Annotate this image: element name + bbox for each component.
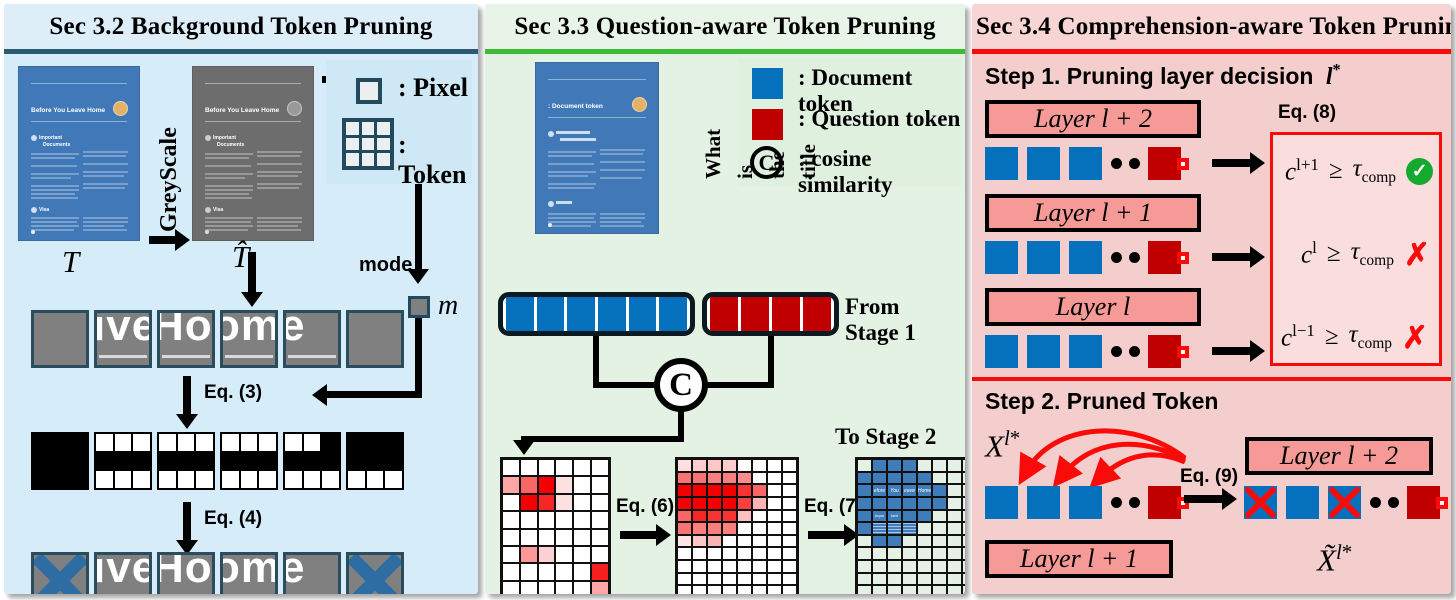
kept-token-4: e — [283, 552, 341, 594]
grid-cell — [708, 523, 721, 534]
grid-cell — [678, 460, 691, 471]
grid-cell — [948, 485, 961, 496]
grid-cell — [738, 460, 751, 471]
mode-label: mode — [359, 254, 412, 277]
step-divider — [972, 377, 1451, 381]
grid-cell — [963, 498, 965, 509]
grid-cell — [678, 548, 691, 559]
document-token-bar — [498, 292, 695, 336]
grid-cell — [753, 498, 766, 509]
check-icon: ✓ — [1406, 158, 1433, 185]
grid-cell — [963, 473, 965, 484]
grid-cell — [592, 495, 608, 510]
token-row-l-plus-2 — [985, 147, 1189, 180]
grid-cell — [592, 547, 608, 562]
grid-cell — [963, 561, 965, 572]
grid-cell — [918, 574, 931, 585]
grid-cell — [873, 473, 886, 484]
ellipsis-dots-icon — [1111, 346, 1140, 357]
grid-cell — [521, 460, 537, 475]
grid-cell — [948, 460, 961, 471]
grid-cell — [873, 574, 886, 585]
grid-cell — [708, 536, 721, 547]
highlighted-token — [1436, 497, 1448, 509]
grid-cell — [503, 564, 519, 579]
grid-cell — [903, 511, 916, 522]
legend-pixel-label: : Pixel — [398, 73, 468, 103]
grid-cell — [574, 495, 590, 510]
grid-cell — [539, 582, 555, 594]
grid-cell — [948, 548, 961, 559]
grid-cell — [768, 586, 781, 594]
question-token-cell — [772, 297, 800, 331]
image-token-5 — [346, 310, 404, 368]
doc-token — [1069, 147, 1102, 180]
grid-cell — [858, 498, 871, 509]
image-token-1: ive — [94, 310, 152, 368]
grid-cell — [768, 498, 781, 509]
grid-cell — [963, 485, 965, 496]
question-word-3: title — [796, 144, 821, 179]
image-token-0 — [31, 310, 89, 368]
doc-token-cell — [629, 297, 657, 331]
grid-cell — [963, 548, 965, 559]
grid-cell — [858, 536, 871, 547]
grid-cell — [574, 512, 590, 527]
grid-cell — [556, 547, 572, 562]
grid-cell — [783, 498, 796, 509]
grid-cell — [783, 473, 796, 484]
m-path-to-eq3 — [324, 391, 422, 398]
grid-cell — [753, 523, 766, 534]
grid-cell — [933, 485, 946, 496]
binary-mask-3 — [220, 432, 278, 490]
grid-cell — [753, 511, 766, 522]
grid-cell — [948, 536, 961, 547]
grid-cell — [539, 547, 555, 562]
cross-out-icon — [1244, 486, 1277, 519]
document-grey-heading-1: Important — [213, 135, 236, 141]
grid-cell — [738, 498, 751, 509]
grid-cell — [963, 574, 965, 585]
grid-cell — [738, 511, 751, 522]
binary-mask-5 — [346, 432, 404, 490]
grid-cell — [693, 498, 706, 509]
grid-cell — [873, 523, 886, 534]
question-token-cell — [741, 297, 769, 331]
grid-cell — [539, 495, 555, 510]
binary-mask-4 — [283, 432, 341, 490]
question-token-cell — [803, 297, 831, 331]
eq7-label: Eq. (7) — [804, 496, 862, 518]
grid-cell — [723, 574, 736, 585]
grid-cell — [903, 574, 916, 585]
eq3-label: Eq. (3) — [204, 382, 262, 404]
question-word-2: the — [765, 151, 790, 179]
highlighted-token — [1177, 158, 1189, 170]
grid-cell — [708, 498, 721, 509]
grid-cell — [693, 561, 706, 572]
legend-cosine-label: : cosine similarity — [798, 146, 962, 198]
grid-cell — [693, 485, 706, 496]
m-path-vertical — [415, 318, 422, 398]
grid-cell — [918, 561, 931, 572]
grid-cell — [768, 548, 781, 559]
grid-cell — [963, 536, 965, 547]
grid-cell — [858, 473, 871, 484]
grid-cell — [933, 460, 946, 471]
grid-cell — [888, 574, 901, 585]
grid-cell — [903, 561, 916, 572]
doc-token — [1286, 486, 1319, 519]
grid-cell — [738, 586, 751, 594]
grid-cell — [738, 548, 751, 559]
doc-token-cell — [506, 297, 534, 331]
grid-cell — [753, 561, 766, 572]
grid-cell — [753, 460, 766, 471]
panel-sec-3-3-body: : Document token : Question token C : co… — [485, 54, 965, 594]
grid-cell — [556, 582, 572, 594]
grid-cell — [903, 586, 916, 594]
figure-root: Sec 3.2 Background Token Pruning Before … — [0, 0, 1456, 600]
kept-token-3: om — [220, 552, 278, 594]
grid-cell — [678, 498, 691, 509]
panel-sec-3-2-title: Sec 3.2 Background Token Pruning — [4, 4, 478, 49]
step-2-label: Step 2. Pruned Token — [985, 388, 1218, 415]
grid-cell — [521, 512, 537, 527]
grid-cell — [858, 548, 871, 559]
cosine-similarity-node: C — [654, 358, 708, 412]
doc-token-cell — [537, 297, 565, 331]
grid-cell — [963, 586, 965, 594]
grid-cell — [738, 536, 751, 547]
eq4-label: Eq. (4) — [204, 508, 262, 530]
grid-cell — [858, 485, 871, 496]
grid-cell — [888, 523, 901, 534]
binary-mask-0 — [31, 432, 89, 490]
grid-cell — [933, 523, 946, 534]
panel-sec-3-4: Sec 3.4 Comprehension-aware Token Prunin… — [972, 4, 1451, 594]
ellipsis-dots-icon — [1111, 252, 1140, 263]
grid-cell — [678, 574, 691, 585]
ellipsis-dots-icon — [1370, 497, 1399, 508]
grid-cell — [753, 548, 766, 559]
grid-cell — [888, 561, 901, 572]
blue-square-icon — [752, 68, 783, 99]
image-token-2: Ho — [157, 310, 215, 368]
highlighted-token — [1177, 252, 1189, 264]
grid-cell — [753, 574, 766, 585]
grid-cell: tant — [888, 511, 901, 522]
grid-cell — [723, 536, 736, 547]
grid-cell — [918, 548, 931, 559]
doc-token — [1069, 335, 1102, 368]
grid-cell — [678, 536, 691, 547]
grid-cell — [678, 561, 691, 572]
grid-cell — [963, 511, 965, 522]
legend-token-label: : Token — [398, 130, 472, 190]
step-1-label: Step 1. Pruning layer decision l* — [985, 60, 1341, 91]
grid-cell — [693, 473, 706, 484]
grid-cell — [539, 564, 555, 579]
grid-cell — [888, 548, 901, 559]
grid-cell — [678, 586, 691, 594]
grid-cell — [592, 530, 608, 545]
panel-sec-3-4-title: Sec 3.4 Comprehension-aware Token Prunin… — [972, 4, 1451, 49]
doc-token-cell — [567, 297, 595, 331]
grid-cell — [556, 460, 572, 475]
grid-cell — [539, 530, 555, 545]
document-heading-2: Visa — [39, 207, 49, 213]
grid-cell — [708, 473, 721, 484]
grid-cell — [783, 485, 796, 496]
eq6-label: Eq. (6) — [616, 496, 674, 518]
grid-cell — [933, 498, 946, 509]
doc-token — [1027, 241, 1060, 274]
ellipsis-dots-icon — [1111, 158, 1140, 169]
question-word-0: What — [701, 129, 726, 179]
grid-cell — [768, 485, 781, 496]
grid-cell — [963, 460, 965, 471]
pixel-square-icon — [356, 78, 382, 104]
grid-cell — [858, 561, 871, 572]
grid-cell — [738, 485, 751, 496]
pruned-doc-token — [1328, 486, 1361, 519]
doc-token — [985, 486, 1018, 519]
layer-label: Layer l + 2 — [1034, 104, 1152, 134]
grid-cell — [723, 485, 736, 496]
grid-cell — [539, 460, 555, 475]
grid-cell — [503, 460, 519, 475]
grid-cell — [574, 547, 590, 562]
grid-cell — [783, 460, 796, 471]
grid-cell — [678, 523, 691, 534]
mode-value-swatch — [408, 296, 430, 318]
grid-cell — [948, 473, 961, 484]
doc-token-cell — [659, 297, 687, 331]
kept-token-2: Ho — [157, 552, 215, 594]
grid-cell — [858, 586, 871, 594]
grid-cell — [708, 574, 721, 585]
grid-cell — [708, 460, 721, 471]
grid-cell — [903, 548, 916, 559]
image-token-3: om — [220, 310, 278, 368]
grid-cell — [574, 460, 590, 475]
grid-cell — [574, 477, 590, 492]
panel-sec-3-3-title: Sec 3.3 Question-aware Token Pruning — [485, 4, 965, 49]
grid-cell — [693, 548, 706, 559]
grid-cell — [738, 473, 751, 484]
image-token-4: e — [283, 310, 341, 368]
layer-label: Layer l + 2 — [1280, 441, 1398, 471]
grid-cell — [783, 574, 796, 585]
highlighted-token — [1177, 346, 1189, 358]
grid-cell — [858, 460, 871, 471]
document-heading-1b: Documents — [43, 142, 70, 148]
grid-cell: eave — [903, 485, 916, 496]
doc-token — [985, 335, 1018, 368]
layer-box-top: Layer l + 2 — [1245, 437, 1433, 475]
eq8-label: Eq. (8) — [1278, 102, 1336, 124]
doc-token — [985, 241, 1018, 274]
grid-cell — [903, 473, 916, 484]
document-title-sec33: : Document token — [548, 103, 603, 110]
grid-cell — [738, 523, 751, 534]
document-grey-heading-1b: Documents — [217, 142, 244, 148]
condition-row-0: cl+1 ≥ τcomp ✓ — [1285, 155, 1433, 187]
grid-cell — [521, 530, 537, 545]
grid-cell — [753, 473, 766, 484]
grid-cell — [933, 574, 946, 585]
grid-cell — [918, 586, 931, 594]
grid-cell — [858, 523, 871, 534]
grid-cell — [521, 564, 537, 579]
token-row-output — [1244, 486, 1448, 519]
grid-cell — [708, 561, 721, 572]
grid-cell — [858, 511, 871, 522]
label-X-tilde-l-star: X̃l* — [1317, 540, 1352, 578]
pruned-token-0 — [31, 552, 89, 594]
grid-cell — [723, 523, 736, 534]
token-row-input — [985, 486, 1189, 519]
grid-cell — [503, 477, 519, 492]
grid-cell — [693, 574, 706, 585]
grid-cell — [556, 512, 572, 527]
grid-cell — [918, 498, 931, 509]
ellipsis-dots-icon — [1111, 497, 1140, 508]
grid-cell — [678, 485, 691, 496]
document-thumbnail-grey: Before You Leave Home Important Document… — [192, 66, 314, 241]
grid-cell — [768, 574, 781, 585]
grid-cell — [873, 460, 886, 471]
cross-out-icon — [34, 555, 86, 594]
grid-cell: Impo — [873, 511, 886, 522]
grid-cell — [723, 586, 736, 594]
grid-cell — [768, 523, 781, 534]
grid-cell — [918, 511, 931, 522]
grid-cell — [753, 485, 766, 496]
grid-cell — [783, 536, 796, 547]
kept-token-1: ive — [94, 552, 152, 594]
layer-label: Layer l + 1 — [1020, 544, 1138, 574]
layer-label: Layer l + 1 — [1034, 198, 1152, 228]
doc-token — [985, 147, 1018, 180]
legend-sec-3-2: : Pixel : Token — [326, 60, 472, 184]
grid-cell — [768, 460, 781, 471]
grid-cell — [933, 536, 946, 547]
token-row-l — [985, 335, 1189, 368]
document-grey-heading-2: Visa — [213, 207, 223, 213]
grid-cell — [678, 511, 691, 522]
grid-cell — [933, 548, 946, 559]
grid-cell — [556, 477, 572, 492]
similarity-matrix-S — [500, 457, 611, 594]
document-title-grey: Before You Leave Home — [205, 107, 279, 114]
doc-token — [1027, 335, 1060, 368]
grid-cell — [948, 586, 961, 594]
doc-token — [1027, 486, 1060, 519]
grid-cell — [738, 561, 751, 572]
pruned-doc-token — [1244, 486, 1277, 519]
layer-box-bottom: Layer l + 1 — [985, 540, 1173, 578]
doc-token — [1069, 486, 1102, 519]
grid-cell — [888, 536, 901, 547]
eq9-label: Eq. (9) — [1180, 466, 1238, 488]
grid-cell — [948, 511, 961, 522]
doc-token — [1027, 147, 1060, 180]
grid-cell — [678, 473, 691, 484]
grid-cell — [521, 547, 537, 562]
grid-cell — [723, 473, 736, 484]
condition-row-2: cl−1 ≥ τcomp ✗ — [1281, 321, 1428, 353]
doc-token-cell — [598, 297, 626, 331]
grid-cell — [723, 561, 736, 572]
document-title-color: Before You Leave Home — [31, 107, 105, 114]
grid-cell — [723, 498, 736, 509]
grid-cell — [858, 574, 871, 585]
pruned-token-matrix-T-tilde: eforeYoueaveHomeImpotant — [855, 457, 965, 594]
layer-box-l-plus-2: Layer l + 2 — [985, 100, 1201, 138]
grid-cell — [888, 460, 901, 471]
grid-cell — [903, 498, 916, 509]
grid-cell — [693, 536, 706, 547]
grid-cell — [948, 523, 961, 534]
grid-cell — [539, 477, 555, 492]
document-thumbnail-sec33: : Document token — [535, 62, 659, 234]
grid-cell — [592, 460, 608, 475]
grid-cell: Home — [918, 485, 931, 496]
grid-cell — [933, 473, 946, 484]
cross-icon: ✗ — [1402, 322, 1428, 353]
question-word-1: is — [733, 165, 758, 179]
grid-cell — [768, 536, 781, 547]
layer-label: Layer l — [1056, 292, 1130, 322]
cross-icon: ✗ — [1404, 239, 1430, 270]
grid-cell — [574, 582, 590, 594]
grid-cell — [948, 561, 961, 572]
grid-cell — [933, 586, 946, 594]
grid-cell — [503, 495, 519, 510]
grid-cell — [873, 498, 886, 509]
grid-cell — [503, 530, 519, 545]
grid-cell — [918, 460, 931, 471]
grid-cell — [888, 498, 901, 509]
grid-cell — [738, 574, 751, 585]
grid-cell — [592, 582, 608, 594]
grid-cell: efore — [873, 485, 886, 496]
binary-mask-1 — [94, 432, 152, 490]
label-T-hat: T̂ — [232, 239, 249, 275]
grid-cell — [933, 561, 946, 572]
grid-cell — [574, 564, 590, 579]
question-token-cell — [710, 297, 738, 331]
grid-cell — [556, 564, 572, 579]
panel-sec-3-4-body: Step 1. Pruning layer decision l* Layer … — [972, 54, 1451, 594]
grid-cell — [708, 548, 721, 559]
grid-cell — [521, 582, 537, 594]
greyscale-label: GreyScale — [156, 127, 183, 232]
grid-cell — [708, 485, 721, 496]
grid-cell — [503, 547, 519, 562]
grid-cell — [903, 523, 916, 534]
grid-cell — [723, 548, 736, 559]
cross-out-icon — [1328, 486, 1361, 519]
grid-cell — [723, 460, 736, 471]
grid-cell — [503, 512, 519, 527]
grid-cell — [888, 586, 901, 594]
grid-cell — [933, 511, 946, 522]
grid-cell — [783, 548, 796, 559]
